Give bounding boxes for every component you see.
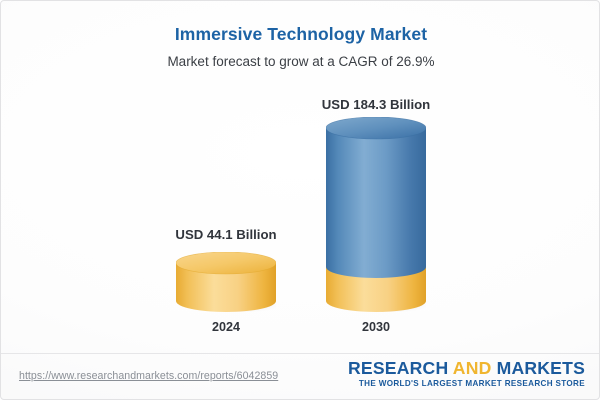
logo-word-research: RESEARCH [348, 358, 448, 378]
source-url-link[interactable]: https://www.researchandmarkets.com/repor… [19, 369, 278, 383]
bar-cylinder-2024 [176, 252, 276, 312]
logo-word-and: AND [453, 358, 492, 378]
research-and-markets-logo[interactable]: RESEARCH AND MARKETS THE WORLD'S LARGEST… [348, 359, 585, 389]
bar-category-label-2030: 2030 [301, 319, 451, 335]
footer-divider [1, 353, 600, 354]
bar-cylinder-2030 [326, 117, 426, 312]
logo-wordmark: RESEARCH AND MARKETS [348, 359, 585, 378]
bar-value-label-2024: USD 44.1 Billion [151, 227, 301, 243]
logo-tagline: THE WORLD'S LARGEST MARKET RESEARCH STOR… [348, 379, 585, 389]
bar-value-label-2030: USD 184.3 Billion [301, 97, 451, 113]
infographic-card: Immersive Technology Market Market forec… [0, 0, 600, 400]
chart-plot-area: USD 44.1 Billion [1, 1, 600, 353]
bar-category-label-2024: 2024 [151, 319, 301, 335]
logo-word-markets: MARKETS [497, 358, 585, 378]
